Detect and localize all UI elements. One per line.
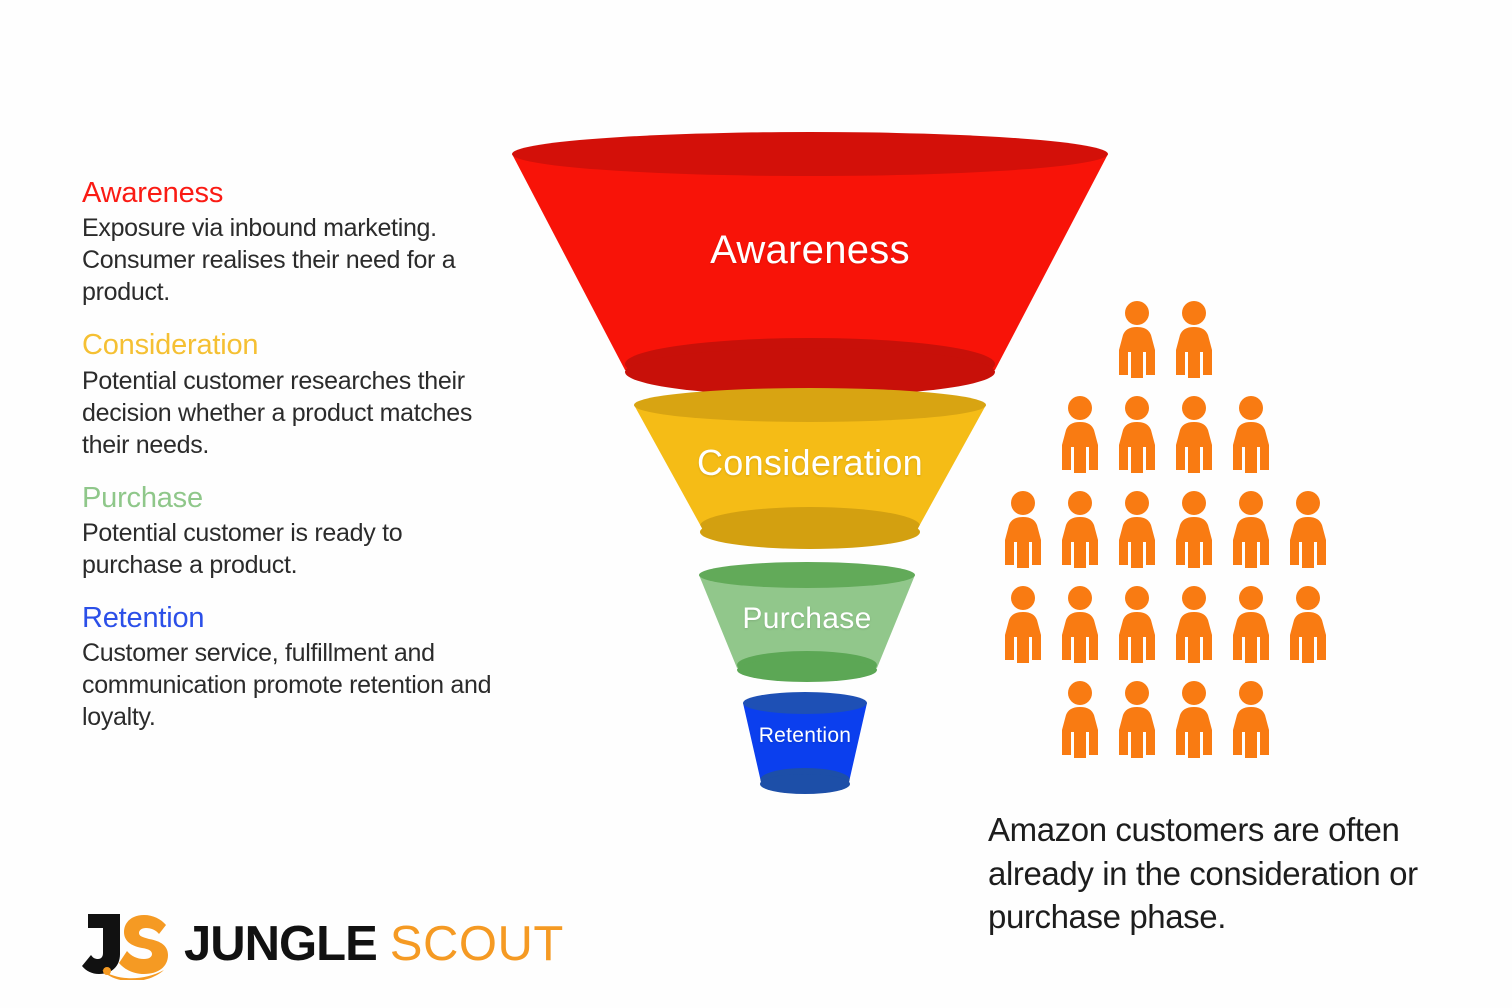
- person-icon: [1115, 490, 1159, 570]
- person-icon: [1172, 490, 1216, 570]
- person-icon: [1172, 585, 1216, 665]
- people-row: [985, 680, 1345, 760]
- person-icon: [1229, 680, 1273, 760]
- person-icon: [1058, 680, 1102, 760]
- logo-word-scout: SCOUT: [390, 920, 564, 969]
- funnel-segment-purchase: Purchase: [692, 562, 922, 687]
- stage-description-list: Awareness Exposure via inbound marketing…: [82, 178, 502, 755]
- person-icon: [1001, 490, 1045, 570]
- person-icon: [1229, 490, 1273, 570]
- stage-title-consideration: Consideration: [82, 330, 502, 361]
- funnel-segment-consideration: Consideration: [625, 388, 995, 553]
- stage-title-awareness: Awareness: [82, 178, 502, 209]
- people-row: [985, 585, 1345, 665]
- caption-text: Amazon customers are often already in th…: [988, 808, 1488, 939]
- stage-description-consideration: Potential customer researches their deci…: [82, 365, 502, 461]
- infographic-canvas: Awareness Exposure via inbound marketing…: [0, 0, 1512, 1008]
- person-icon: [1058, 395, 1102, 475]
- person-icon: [1172, 300, 1216, 380]
- person-icon: [1058, 585, 1102, 665]
- person-icon: [1115, 680, 1159, 760]
- stage-title-purchase: Purchase: [82, 483, 502, 514]
- jungle-scout-logo: JUNGLE SCOUT: [80, 908, 564, 980]
- people-row: [985, 300, 1345, 380]
- people-pictogram-grid: [985, 300, 1345, 780]
- people-row: [985, 490, 1345, 570]
- person-icon: [1115, 300, 1159, 380]
- logo-word-jungle: JUNGLE: [184, 920, 377, 969]
- person-icon: [1115, 585, 1159, 665]
- person-icon: [1286, 585, 1330, 665]
- js-monogram-icon: [80, 908, 178, 980]
- funnel-segment-retention: Retention: [730, 692, 880, 800]
- stage-description-purchase: Potential customer is ready to purchase …: [82, 517, 502, 581]
- person-icon: [1001, 585, 1045, 665]
- person-icon: [1115, 395, 1159, 475]
- stage-description-awareness: Exposure via inbound marketing. Consumer…: [82, 212, 502, 308]
- person-icon: [1229, 395, 1273, 475]
- stage-block-consideration: Consideration Potential customer researc…: [82, 330, 502, 460]
- person-icon: [1172, 680, 1216, 760]
- person-icon: [1229, 585, 1273, 665]
- person-icon: [1058, 490, 1102, 570]
- person-icon: [1286, 490, 1330, 570]
- people-row: [985, 395, 1345, 475]
- stage-description-retention: Customer service, fulfillment and commun…: [82, 637, 502, 733]
- person-icon: [1172, 395, 1216, 475]
- stage-title-retention: Retention: [82, 603, 502, 634]
- stage-block-retention: Retention Customer service, fulfillment …: [82, 603, 502, 733]
- stage-block-awareness: Awareness Exposure via inbound marketing…: [82, 178, 502, 308]
- stage-block-purchase: Purchase Potential customer is ready to …: [82, 483, 502, 581]
